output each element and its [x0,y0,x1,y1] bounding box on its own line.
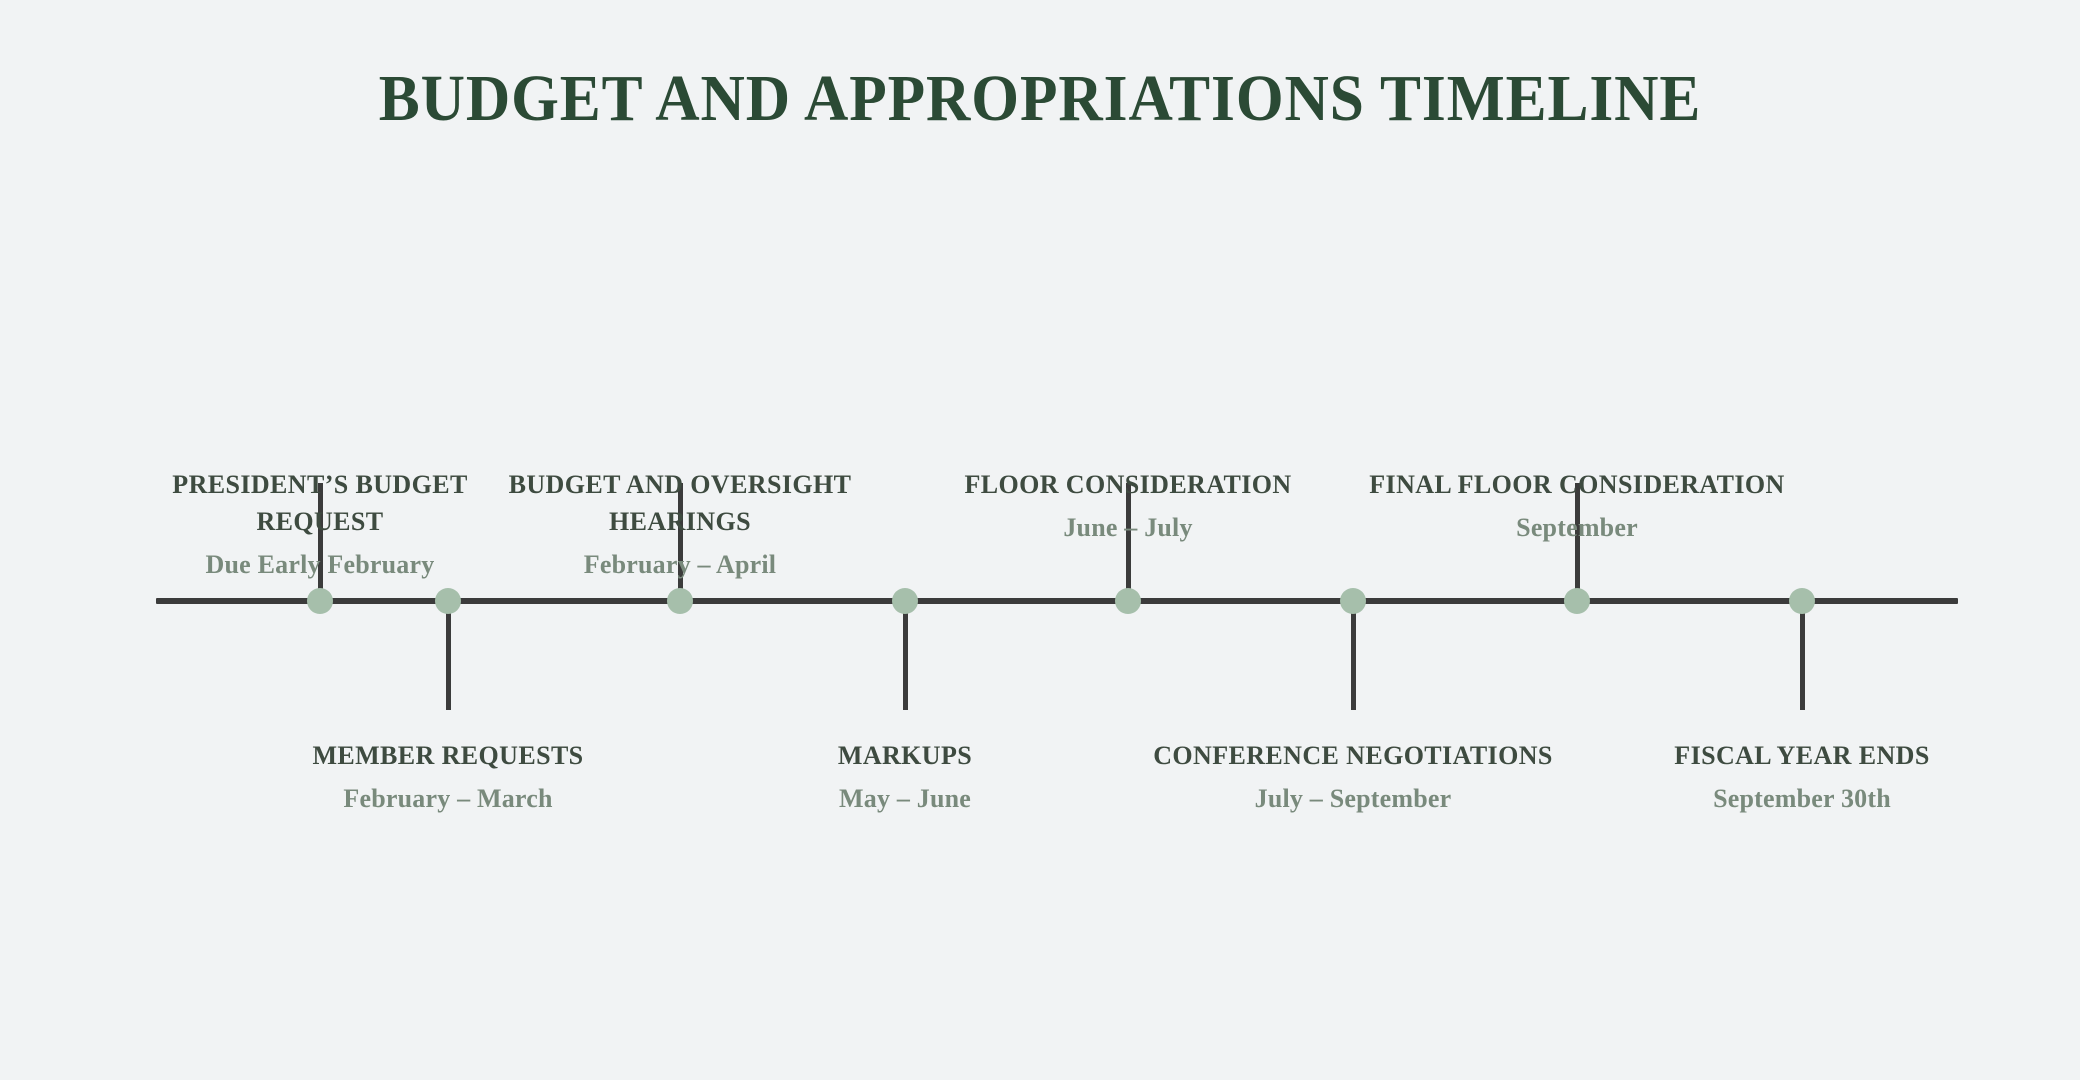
timeline-label-subtitle: Due Early February [110,546,530,583]
timeline-label-block: MARKUPSMay – June [695,738,1115,817]
timeline-label-block: CONFERENCE NEGOTIATIONSJuly – September [1143,738,1563,817]
timeline-label-title: PRESIDENT’S BUDGET REQUEST [110,466,530,540]
timeline-label-title: BUDGET AND OVERSIGHT HEARINGS [470,466,890,540]
timeline-label-block: MEMBER REQUESTSFebruary – March [238,738,658,817]
timeline-label-subtitle: July – September [1143,780,1563,817]
timeline-label-title: FLOOR CONSIDERATION [918,466,1338,503]
timeline-connector-line [903,601,908,710]
timeline-axis-line [156,598,1958,604]
timeline-label-subtitle: June – July [918,509,1338,546]
timeline-milestone-dot[interactable] [307,588,333,614]
timeline-label-title: MEMBER REQUESTS [238,738,658,774]
timeline-label-subtitle: February – April [470,546,890,583]
timeline-milestone-dot[interactable] [1340,588,1366,614]
page-title: BUDGET AND APPROPRIATIONS TIMELINE [73,60,2007,138]
timeline-milestone-dot[interactable] [667,588,693,614]
timeline-milestone-dot[interactable] [435,588,461,614]
timeline-milestone-dot[interactable] [1115,588,1141,614]
timeline-label-subtitle: September 30th [1592,780,2012,817]
timeline-infographic: BUDGET AND APPROPRIATIONS TIMELINE PRESI… [0,0,2080,1080]
timeline-label-title: MARKUPS [695,738,1115,774]
timeline-label-title: FISCAL YEAR ENDS [1592,738,2012,774]
timeline-label-block: FISCAL YEAR ENDSSeptember 30th [1592,738,2012,817]
timeline-label-subtitle: September [1367,509,1787,546]
timeline-connector-line [446,601,451,710]
timeline-connector-line [1351,601,1356,710]
timeline-label-subtitle: May – June [695,780,1115,817]
timeline-milestone-dot[interactable] [1789,588,1815,614]
timeline-connector-line [1800,601,1805,710]
timeline-label-title: FINAL FLOOR CONSIDERATION [1367,466,1787,503]
timeline-milestone-dot[interactable] [892,588,918,614]
timeline-milestone-dot[interactable] [1564,588,1590,614]
timeline-label-subtitle: February – March [238,780,658,817]
timeline-label-title: CONFERENCE NEGOTIATIONS [1143,738,1563,774]
